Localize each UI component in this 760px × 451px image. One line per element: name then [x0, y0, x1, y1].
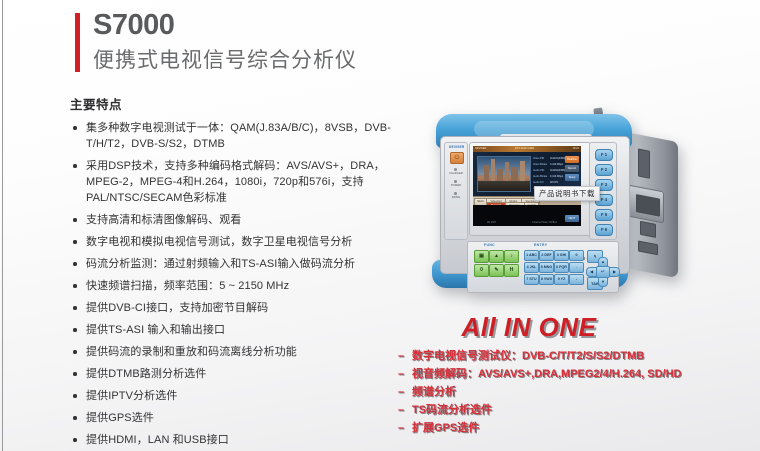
list-item: 提供DVB-CI接口，支持加密节目解码 — [70, 300, 400, 316]
info-value: 0x1102(4354) — [550, 169, 565, 172]
info-value: 0x1101(4353) — [550, 157, 565, 160]
features-list: 集多种数字电视测试于一体：QAM(J.83A/B/C)，8VSB，DVB-T/H… — [70, 120, 400, 451]
power-led — [454, 180, 457, 183]
drive-led-label: DRIVE — [445, 196, 467, 199]
list-item: 快速频谱扫描，频率范围：5 ~ 2150 MHz — [70, 278, 400, 294]
list-item: 提供IPTV分析选件 — [70, 388, 400, 404]
function-key-f6[interactable]: F 6 — [595, 224, 613, 236]
function-key-f5[interactable]: F 5 — [595, 209, 613, 221]
s7000-device-illustration: DEVISER ⏻ CHARGER POWER DRIVE DEVISER DT… — [418, 108, 686, 308]
list-item: 提供DTMB路测分析选件 — [70, 366, 400, 382]
screen-button-record[interactable]: Record — [565, 165, 579, 172]
num-key-0[interactable]: 0 — [569, 250, 584, 261]
num-key-8[interactable]: 8 VWX — [539, 274, 554, 285]
video-building — [505, 162, 509, 181]
list-item: 提供码流的录制和重放和码流离线分析功能 — [70, 344, 400, 360]
product-header: S7000 便携式电视信号综合分析仪 — [75, 12, 475, 74]
video-building — [520, 161, 525, 181]
num-key-6[interactable]: 6 PQR — [554, 262, 569, 273]
num-key-2[interactable]: 2 DEF — [539, 250, 554, 261]
list-item: 支持高清和标清图像解码、观看 — [70, 212, 400, 228]
list-item: TS码流分析选件 — [398, 403, 760, 418]
manual-download-overlay[interactable]: 产品说明书下载 — [534, 186, 600, 201]
side-port-4 — [638, 240, 658, 255]
screen-button-setup[interactable]: Setup — [565, 174, 579, 181]
info-value: 0.413 Mbps — [550, 175, 563, 178]
info-value: 48 KHz — [550, 181, 558, 184]
num-key-3[interactable]: 3 GHI — [554, 250, 569, 261]
screen-button-realtime[interactable]: Realtime — [565, 156, 579, 163]
charger-led — [454, 168, 457, 171]
info-key: Video PID — [533, 157, 544, 160]
screen-topbar-mid: DTV ANALYZER — [515, 147, 534, 150]
screen-side-buttons: Realtime Record Setup — [565, 156, 579, 183]
video-water — [478, 181, 530, 191]
dpad-enter[interactable]: ↵ — [596, 266, 610, 278]
features-section: 主要特点 集多种数字电视测试于一体：QAM(J.83A/B/C)，8VSB，DV… — [70, 94, 400, 451]
list-item: 视音频解码：AVS/AVS+,DRA,MPEG2/4/H.264, SD/HD — [398, 367, 760, 382]
screen-topbar-right: 18:24 — [573, 147, 580, 150]
num-key-4[interactable]: 4 JKL — [524, 262, 539, 273]
video-building — [484, 165, 489, 181]
func-key-help[interactable]: H — [504, 264, 519, 277]
list-item: 采用DSP技术，支持多种编码格式解码：AVS/AVS+，DRA，MPEG-2，M… — [70, 158, 400, 206]
screen-lower-panel: AV OUT Channel Scan: DVB-C NEXT — [473, 205, 581, 226]
num-key-7[interactable]: 7 STU — [524, 274, 539, 285]
func-key-audio[interactable]: ♪ — [504, 250, 519, 263]
features-heading: 主要特点 — [70, 94, 400, 113]
num-key-1[interactable]: 1 ABC — [524, 250, 539, 261]
charger-led-label: CHARGER — [445, 172, 467, 175]
num-key-9[interactable]: 9 YZ — [554, 274, 569, 285]
product-photo: DEVISER ⏻ CHARGER POWER DRIVE DEVISER DT… — [418, 108, 686, 308]
product-brochure-page: S7000 便携式电视信号综合分析仪 主要特点 集多种数字电视测试于一体：QAM… — [0, 0, 760, 451]
list-item: 数字电视信号测试仪：DVB-C/T/T2/S/S2/DTMB — [398, 349, 760, 364]
side-port-1 — [638, 148, 650, 178]
page-title: S7000 — [93, 9, 174, 42]
video-building — [497, 169, 503, 181]
info-value: 3.416 Mbps — [550, 163, 563, 166]
drive-led — [454, 192, 457, 195]
list-item: 提供GPS选件 — [70, 410, 400, 426]
keypad-entry-label: ENTRY — [534, 243, 547, 247]
dpad-right[interactable]: ▶ — [609, 267, 620, 277]
function-key-f2[interactable]: F 2 — [595, 164, 613, 176]
all-in-one-title: All IN ONE — [398, 312, 760, 343]
video-building — [491, 159, 495, 181]
func-key-tools[interactable]: ✎ — [489, 264, 504, 277]
func-key-display[interactable]: ▣ — [474, 250, 489, 263]
screen-topbar-left: DEVISER — [475, 147, 486, 150]
info-key: Audio PID — [533, 169, 544, 172]
screen-next-button[interactable]: NEXT — [565, 215, 579, 222]
all-in-one-section: All IN ONE 数字电视信号测试仪：DVB-C/T/T2/S/S2/DTM… — [398, 312, 760, 439]
function-key-f1[interactable]: F 1 — [595, 149, 613, 161]
page-subtitle: 便携式电视信号综合分析仪 — [93, 44, 357, 74]
list-item: 数字电视和模拟电视信号测试，数字卫星电视信号分析 — [70, 234, 400, 250]
power-led-label: POWER — [445, 184, 467, 187]
info-key: Audio Bitrate — [533, 175, 547, 178]
list-item: 集多种数字电视测试于一体：QAM(J.83A/B/C)，8VSB，DVB-T/H… — [70, 120, 400, 152]
screen-footer-left: AV OUT — [487, 221, 496, 224]
list-item: 频谱分析 — [398, 385, 760, 400]
device-brand-logo: DEVISER — [449, 145, 464, 149]
list-item: 提供HDMI，LAN 和USB接口 — [70, 432, 400, 448]
power-button[interactable]: ⏻ — [450, 152, 464, 164]
num-key-dot[interactable]: . — [569, 262, 584, 273]
list-item: 扩展GPS选件 — [398, 421, 760, 436]
dpad-down[interactable]: ▼ — [598, 277, 608, 287]
left-divider — [2, 0, 3, 451]
list-item: 提供TS-ASI 输入和输出接口 — [70, 322, 400, 338]
keypad-func-label: FUNC — [484, 243, 495, 247]
all-in-one-list: 数字电视信号测试仪：DVB-C/T/T2/S/S2/DTMB 视音频解码：AVS… — [398, 349, 760, 436]
num-key-minus[interactable]: - — [569, 274, 584, 285]
video-building — [511, 167, 518, 181]
screen-footer-right: Channel Scan: DVB-C — [532, 221, 557, 224]
header-accent-bar — [75, 13, 80, 72]
func-key-home[interactable]: ▲ — [489, 250, 504, 263]
video-preview — [477, 156, 531, 192]
num-key-5[interactable]: 5 MNO — [539, 262, 554, 273]
info-key: Video Bitrate — [533, 163, 547, 166]
device-keypad: FUNC ENTRY S7000 TV ANALYZER ▣ ▲ ♪ 0 ✎ H… — [467, 241, 619, 293]
side-port-3 — [640, 221, 656, 238]
info-key: Audio FO — [533, 181, 544, 184]
list-item: 码流分析监测：通过射频输入和TS-ASI输入做码流分析 — [70, 256, 400, 272]
func-key-zero[interactable]: 0 — [474, 264, 489, 277]
device-left-control-strip: DEVISER ⏻ CHARGER POWER DRIVE — [444, 142, 468, 240]
device-front-panel: DEVISER ⏻ CHARGER POWER DRIVE DEVISER DT… — [440, 136, 630, 274]
